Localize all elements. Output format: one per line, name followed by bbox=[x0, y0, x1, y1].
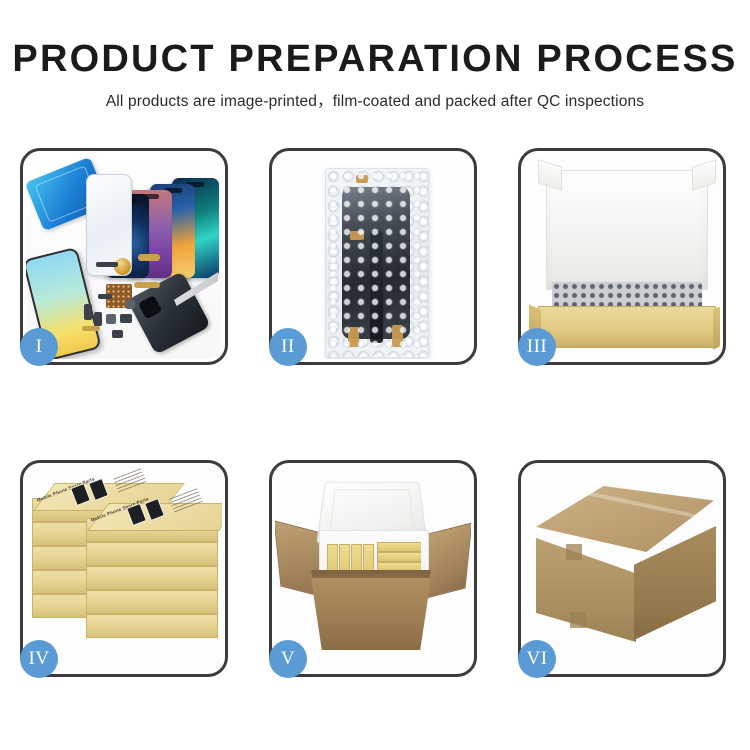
spare-part bbox=[84, 304, 92, 320]
process-step-grid: I II III bbox=[20, 148, 735, 677]
kraft-tray-base bbox=[538, 306, 716, 348]
bubble-wrap-bag bbox=[325, 168, 429, 358]
spare-part bbox=[134, 282, 160, 288]
step-badge-5: V bbox=[269, 640, 307, 678]
step-2-image bbox=[275, 154, 471, 359]
process-step-4[interactable]: Mobile Phone Spare Parts Mobile Phone Sp… bbox=[20, 460, 228, 677]
page-title: PRODUCT PREPARATION PROCESS bbox=[0, 0, 750, 80]
carton-tape-patch bbox=[566, 544, 582, 560]
retail-box bbox=[86, 566, 218, 590]
process-step-6[interactable]: VI bbox=[518, 460, 726, 677]
step-6-image bbox=[524, 466, 720, 671]
carton-tape-patch bbox=[570, 612, 586, 628]
retail-box bbox=[86, 542, 218, 566]
carton-front-panel bbox=[311, 578, 431, 650]
spare-part bbox=[98, 294, 112, 299]
step-badge-1: I bbox=[20, 328, 58, 366]
white-foam-lid bbox=[546, 170, 708, 290]
spare-part bbox=[82, 326, 100, 331]
process-step-5[interactable]: V bbox=[269, 460, 477, 677]
spare-part bbox=[126, 300, 135, 309]
retail-box-top-right: Mobile Phone Spare Parts bbox=[86, 518, 218, 542]
spare-part bbox=[120, 314, 132, 323]
page-header: PRODUCT PREPARATION PROCESS All products… bbox=[0, 0, 750, 111]
page-subtitle: All products are image-printed，film-coat… bbox=[0, 80, 750, 111]
process-step-3[interactable]: III bbox=[518, 148, 726, 365]
spare-part bbox=[94, 312, 102, 326]
spare-part bbox=[106, 314, 116, 324]
step-1-image bbox=[26, 154, 222, 359]
spare-part bbox=[138, 254, 160, 261]
step-badge-4: IV bbox=[20, 640, 58, 678]
process-step-2[interactable]: II bbox=[269, 148, 477, 365]
retail-box bbox=[86, 590, 218, 614]
step-badge-2: II bbox=[269, 328, 307, 366]
step-badge-6: VI bbox=[518, 640, 556, 678]
spare-part bbox=[112, 330, 123, 338]
retail-box-stack: Mobile Phone Spare Parts Mobile Phone Sp… bbox=[32, 486, 222, 658]
step-3-image bbox=[524, 154, 720, 359]
yellow-box bbox=[377, 542, 421, 552]
bubble-texture bbox=[326, 169, 428, 357]
step-badge-3: III bbox=[518, 328, 556, 366]
process-step-1[interactable]: I bbox=[20, 148, 228, 365]
shipping-carton-left-face bbox=[536, 538, 636, 642]
retail-box bbox=[86, 614, 218, 638]
spare-part bbox=[96, 262, 118, 267]
yellow-box bbox=[377, 552, 421, 562]
step-5-image bbox=[275, 466, 471, 671]
step-4-image: Mobile Phone Spare Parts Mobile Phone Sp… bbox=[26, 466, 222, 671]
